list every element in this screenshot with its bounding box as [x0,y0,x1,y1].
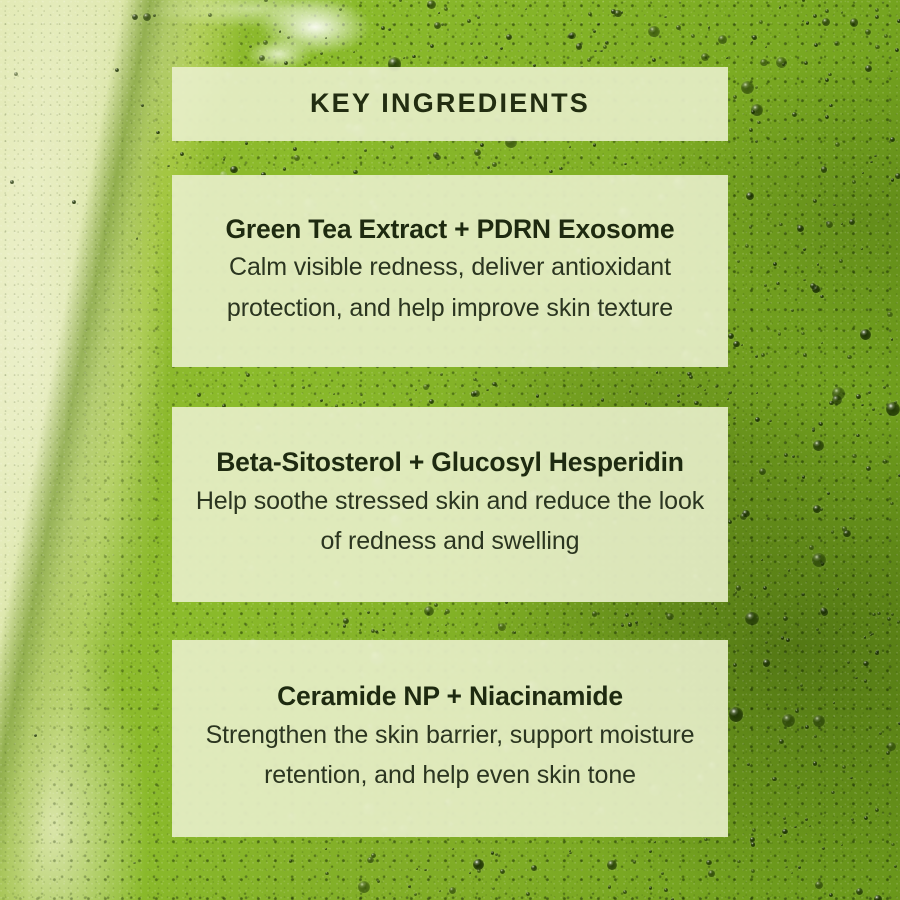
foam-bubble [360,394,362,396]
ingredient-name-1: Green Tea Extract + PDRN Exosome [226,214,675,245]
foam-bubble [752,828,755,831]
foam-bubble [757,121,760,124]
foam-bubble [847,355,851,359]
foam-bubble [883,459,887,463]
foam-bubble [866,466,871,471]
foam-bubble [733,341,739,347]
foam-bubble [133,862,135,864]
foam-bubble [416,868,418,870]
foam-bubble [293,147,296,150]
foam-bubble [353,51,355,53]
foam-bubble [747,763,750,766]
foam-bubble [813,440,824,451]
foam-bubble [433,152,440,159]
foam-bubble [594,50,596,52]
foam-bubble [333,393,335,395]
foam-bubble [353,170,357,174]
foam-bubble [812,553,826,567]
foam-bubble [883,386,885,388]
foam-bubble [764,284,767,287]
foam-bubble [841,844,843,846]
foam-bubble [666,613,673,620]
ingredient-panel-3: Ceramide NP + Niacinamide Strengthen the… [172,640,728,837]
foam-bubble [526,892,530,896]
foam-bubble [895,173,900,179]
foam-bubble [839,259,843,263]
foam-bubble [371,853,376,858]
foam-bubble [813,761,817,765]
foam-bubble [856,888,863,895]
foam-bubble [897,620,900,624]
foam-bubble [821,166,827,172]
foam-bubble [480,143,484,147]
ingredient-panel-1: Green Tea Extract + PDRN Exosome Calm vi… [172,175,728,367]
foam-bubble [549,170,553,174]
foam-bubble [661,872,664,875]
foam-bubble [495,853,498,856]
key-ingredients-header-panel: KEY INGREDIENTS [172,67,728,141]
ingredient-description-3: Strengthen the skin barrier, support moi… [200,715,700,796]
foam-bubble [795,709,799,713]
foam-bubble [208,13,212,17]
foam-bubble [837,588,839,590]
foam-bubble [856,434,860,438]
ingredient-description-2: Help soothe stressed skin and reduce the… [190,481,710,562]
foam-bubble [718,35,727,44]
foam-bubble [715,385,718,388]
foam-bubble [351,402,353,404]
foam-bubble [831,530,835,534]
foam-bubble [875,808,879,812]
foam-bubble [571,404,573,406]
foam-bubble [805,818,808,821]
foam-bubble [852,180,855,183]
foam-bubble [852,454,857,459]
foam-bubble [865,29,871,35]
foam-bubble [877,612,881,616]
foam-bubble [814,43,818,47]
foam-bubble [788,569,790,571]
foam-bubble [381,26,384,29]
foam-bubble [825,9,829,13]
foam-bubble [809,545,814,550]
foam-bubble [263,40,268,45]
foam-bubble [492,162,497,167]
foam-bubble [805,725,809,729]
foam-bubble [491,851,494,854]
foam-bubble [621,624,624,627]
foam-bubble [791,309,794,312]
ingredient-infographic: KEY INGREDIENTS Green Tea Extract + PDRN… [0,0,900,900]
foam-bubble [445,609,451,615]
foam-bubble [284,61,288,65]
foam-bubble [607,860,617,870]
foam-bubble [34,734,37,737]
foam-bubble [444,7,448,11]
foam-bubble [812,429,815,432]
foam-bubble [359,629,361,631]
foam-bubble [10,180,13,183]
foam-bubble [587,58,591,62]
foam-bubble [434,22,441,29]
foam-bubble [749,151,751,153]
foam-bubble [864,419,866,421]
foam-bubble [343,624,346,627]
foam-bubble [141,104,144,107]
foam-bubble [802,593,805,596]
foam-bubble [302,386,305,389]
foam-bubble [831,791,835,795]
foam-bubble [887,312,892,317]
foam-bubble [156,131,160,135]
foam-bubble [246,373,250,377]
foam-bubble [763,659,771,667]
foam-bubble [741,81,754,94]
foam-bubble [783,616,788,621]
foam-bubble [367,857,373,863]
foam-bubble [737,860,740,863]
foam-bubble [429,399,434,404]
foam-bubble [635,621,637,623]
foam-bubble [872,613,876,617]
foam-bubble [755,86,758,89]
foam-bubble [600,50,602,52]
foam-bubble [500,47,503,50]
foam-bubble [593,143,596,146]
foam-bubble [424,869,426,871]
ingredient-name-3: Ceramide NP + Niacinamide [277,681,623,712]
foam-bubble [842,526,847,531]
foam-bubble [737,260,740,263]
foam-bubble [752,35,756,39]
foam-bubble [645,402,647,404]
foam-bubble [781,636,785,640]
foam-bubble [803,248,806,251]
foam-bubble [794,826,797,829]
foam-bubble [708,26,710,28]
foam-bubble [782,63,785,66]
foam-bubble [601,398,605,402]
foam-bubble [874,155,877,158]
foam-bubble [856,394,860,398]
foam-bubble [470,42,473,45]
foam-bubble [245,142,248,145]
foam-bubble [827,492,830,495]
foam-bubble [469,872,471,874]
foam-bubble [531,865,537,871]
foam-bubble [649,886,652,889]
foam-bubble [785,866,787,868]
foam-bubble [614,10,621,17]
foam-bubble [810,283,816,289]
foam-bubble [745,612,758,625]
foam-bubble [473,378,477,382]
foam-bubble [14,72,18,76]
foam-bubble [816,628,819,631]
foam-bubble [628,622,632,626]
foam-bubble [364,149,367,152]
foam-bubble [304,63,307,66]
foam-bubble [477,16,480,19]
foam-bubble [708,870,714,876]
foam-bubble [821,342,823,344]
foam-bubble [829,893,833,897]
foam-bubble [735,591,737,593]
foam-bubble [294,155,300,161]
foam-bubble [782,714,795,727]
foam-bubble [729,707,743,721]
foam-bubble [588,12,592,16]
foam-bubble [819,422,823,426]
foam-bubble [694,401,698,405]
foam-bubble [259,55,265,61]
foam-bubble [891,843,894,846]
foam-bubble [872,408,875,411]
foam-bubble [677,400,680,403]
foam-bubble [822,18,830,26]
foam-bubble [887,742,896,751]
foam-bubble [706,860,712,866]
foam-bubble [648,26,659,37]
foam-bubble [656,371,658,373]
foam-bubble [786,638,789,641]
foam-bubble [841,223,843,225]
foam-bubble [829,401,833,405]
foam-bubble [72,200,76,204]
foam-bubble [886,402,900,416]
foam-bubble [728,520,732,524]
foam-bubble [806,21,809,24]
foam-bubble [750,837,755,842]
foam-bubble [875,8,879,12]
foam-bubble [689,375,693,379]
foam-bubble [749,225,752,228]
foam-bubble [891,338,893,340]
foam-bubble [343,618,349,624]
foam-bubble [569,32,576,39]
foam-bubble [492,382,496,386]
foam-bubble [886,751,889,754]
foam-bubble [467,19,471,23]
foam-bubble [570,19,572,21]
foam-bubble [834,41,840,47]
foam-bubble [855,677,857,679]
foam-bubble [728,333,734,339]
foam-bubble [736,585,742,591]
foam-bubble [891,613,894,616]
foam-bubble [677,394,680,397]
ingredient-description-1: Calm visible redness, deliver antioxidan… [215,247,685,328]
foam-bubble [264,0,267,2]
foam-bubble [756,392,758,394]
foam-bubble [289,859,293,863]
foam-bubble [875,15,879,19]
foam-bubble [884,34,887,37]
foam-bubble [664,16,666,18]
foam-bubble [408,885,411,888]
foam-bubble [664,888,668,892]
foam-bubble [487,166,490,169]
foam-bubble [415,389,417,391]
foam-bubble [399,0,402,2]
foam-bubble [875,45,879,49]
foam-bubble [559,167,563,171]
foam-bubble [704,838,708,842]
foam-bubble [887,617,891,621]
foam-bubble [863,661,869,667]
foam-bubble [363,401,365,403]
foam-bubble [860,329,871,340]
foam-bubble [798,866,801,869]
foam-bubble [815,881,823,889]
foam-bubble [423,384,429,390]
foam-bubble [850,18,859,27]
foam-bubble [449,887,456,894]
foam-bubble [167,165,170,168]
foam-bubble [283,167,287,171]
foam-bubble [751,869,755,873]
foam-bubble [861,404,863,406]
foam-bubble [576,43,582,49]
foam-bubble [440,373,442,375]
foam-bubble [115,68,119,72]
ingredient-panel-2: Beta-Sitosterol + Glucosyl Hesperidin He… [172,407,728,602]
foam-bubble [153,14,155,16]
foam-bubble [498,623,506,631]
foam-bubble [358,881,370,893]
foam-bubble [597,23,599,25]
foam-bubble [803,279,805,281]
page-title: KEY INGREDIENTS [310,89,590,119]
foam-bubble [803,353,806,356]
foam-bubble [864,679,867,682]
foam-bubble [802,475,806,479]
ingredient-name-2: Beta-Sitosterol + Glucosyl Hesperidin [216,447,684,478]
foam-bubble [751,842,755,846]
foam-bubble [773,262,777,266]
foam-bubble [797,786,800,789]
foam-bubble [388,28,392,32]
foam-bubble [754,596,756,598]
